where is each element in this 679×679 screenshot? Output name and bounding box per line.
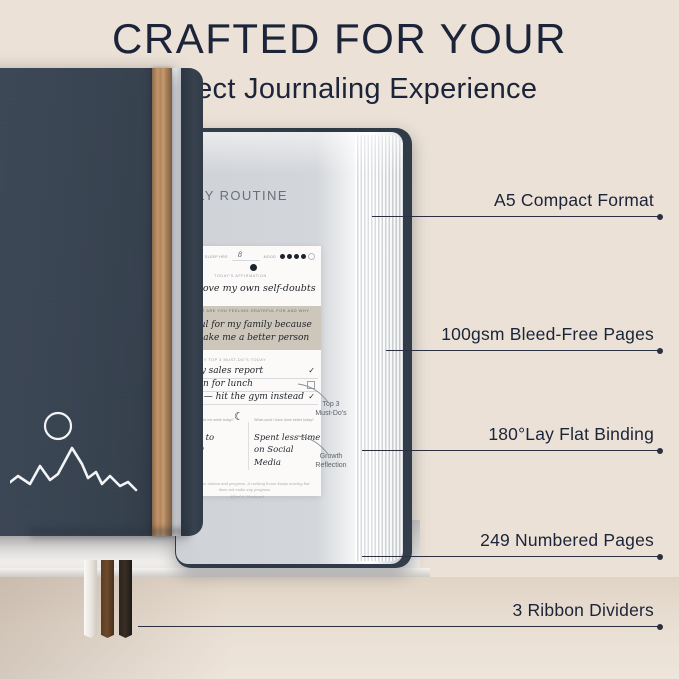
- callout-dot: [657, 348, 663, 354]
- callout-lay-flat-binding: 180°Lay Flat Binding: [362, 450, 660, 451]
- callout-100gsm-pages: 100gsm Bleed-Free Pages: [386, 350, 660, 351]
- desk-lip: [0, 568, 430, 577]
- page-fore-edge: [355, 135, 403, 561]
- cover-drop-shadow: [30, 528, 190, 542]
- journal-spine: [181, 68, 203, 536]
- mood-dot-1: [280, 254, 285, 259]
- sleep-value-rule: 8: [232, 252, 260, 261]
- elastic-closure-band: [152, 68, 172, 536]
- mood-rating: [280, 253, 315, 260]
- callout-label: 249 Numbered Pages: [480, 530, 654, 551]
- product-feature-image: CRAFTED FOR YOUR Perfect Journaling Expe…: [0, 0, 679, 679]
- callout-label: 100gsm Bleed-Free Pages: [441, 324, 654, 345]
- mood-dot-5: [308, 253, 315, 260]
- page-callout-top3: Top 3 Must-Do's: [311, 400, 351, 419]
- callout-label: A5 Compact Format: [494, 190, 654, 211]
- mood-label: Mood: [264, 255, 276, 259]
- todo-checkmark-icon: ✓: [308, 366, 315, 375]
- mountain-sun-logo-icon: [10, 398, 150, 508]
- ribbon-cream: [84, 560, 97, 632]
- moon-icon: [250, 264, 257, 271]
- ribbon-brown: [101, 560, 114, 632]
- callout-label: 3 Ribbon Dividers: [512, 600, 654, 621]
- callout-ribbon-dividers: 3 Ribbon Dividers: [138, 626, 660, 627]
- page-top-highlight: [176, 132, 403, 174]
- page-title: CRAFTED FOR YOUR: [0, 18, 679, 60]
- callout-dot: [657, 554, 663, 560]
- callout-dot: [657, 624, 663, 630]
- reflection-question-2: What could I have done better today?: [254, 418, 314, 423]
- callout-numbered-pages: 249 Numbered Pages: [362, 556, 660, 557]
- callout-dot: [657, 448, 663, 454]
- todo-title: MY TOP 3 MUST-DO'S TODAY: [200, 358, 266, 362]
- mood-dot-3: [294, 254, 299, 259]
- callout-label: 180°Lay Flat Binding: [488, 424, 654, 445]
- affirmation-title: TODAY'S AFFIRMATION: [214, 274, 267, 278]
- mood-dot-2: [287, 254, 292, 259]
- page-callout-growth: Growth Reflection: [311, 452, 351, 471]
- sleep-value: 8: [238, 251, 242, 259]
- sleep-label: Sleep hrs: [205, 255, 228, 259]
- desk-front-shadow: [0, 577, 230, 679]
- callout-dot: [657, 214, 663, 220]
- reflection-divider: [248, 422, 249, 470]
- gratitude-section: WHAT ARE YOU FEELING GRATEFUL FOR AND WH…: [186, 306, 321, 350]
- ribbon-dark: [119, 560, 132, 632]
- journal-header-row: 25 Sleep hrs 8 Mood: [192, 251, 315, 262]
- gratitude-title: WHAT ARE YOU FEELING GRATEFUL FOR AND WH…: [192, 309, 309, 313]
- journal-spine-edge: [172, 68, 181, 536]
- mood-dot-4: [301, 254, 306, 259]
- callout-a5-compact-format: A5 Compact Format: [372, 216, 660, 217]
